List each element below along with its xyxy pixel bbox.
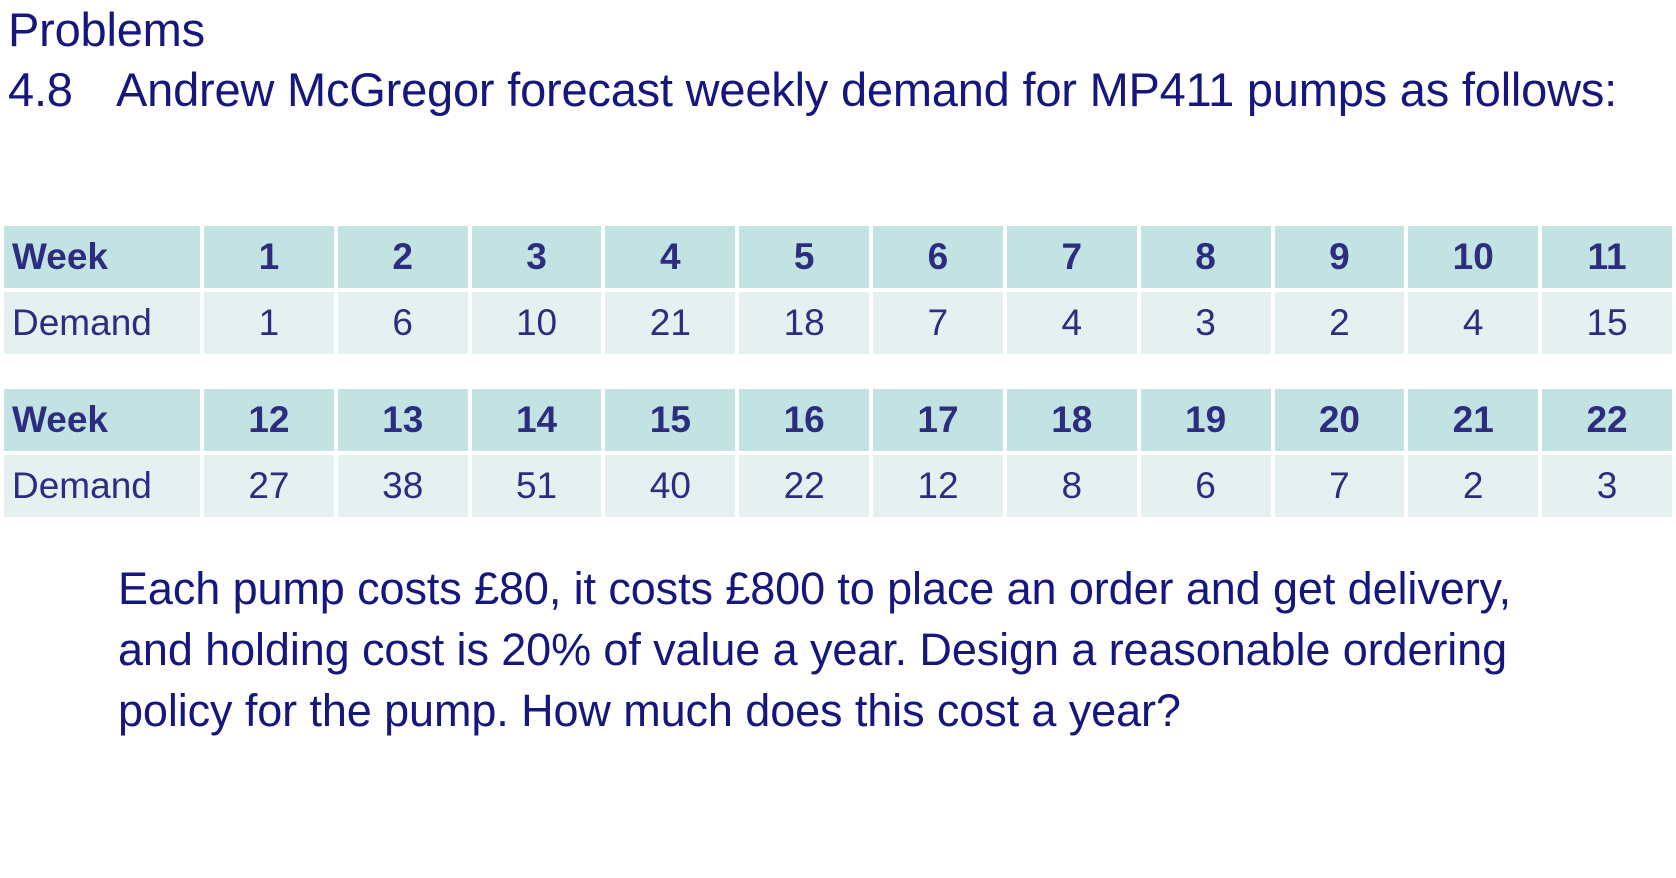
- demand-cell: 12: [873, 455, 1003, 517]
- week-cell: 2: [338, 226, 468, 288]
- week-cell: 5: [739, 226, 869, 288]
- page-title: Problems: [8, 2, 1668, 58]
- demand-cell: 40: [605, 455, 735, 517]
- demand-cell: 3: [1141, 292, 1271, 354]
- table-row-demand: Demand 1 6 10 21 18 7 4 3 2 4 15: [4, 292, 1672, 354]
- week-cell: 21: [1408, 389, 1538, 451]
- demand-cell: 21: [605, 292, 735, 354]
- demand-cell: 3: [1542, 455, 1672, 517]
- week-cell: 3: [472, 226, 602, 288]
- slide-canvas: Problems 4.8 Andrew McGregor forecast we…: [0, 0, 1676, 878]
- heading-block: Problems 4.8 Andrew McGregor forecast we…: [8, 2, 1668, 121]
- demand-cell: 1: [204, 292, 334, 354]
- problem-number: 4.8: [8, 58, 116, 121]
- demand-cell: 10: [472, 292, 602, 354]
- week-cell: 6: [873, 226, 1003, 288]
- week-cell: 11: [1542, 226, 1672, 288]
- week-cell: 12: [204, 389, 334, 451]
- demand-cell: 2: [1408, 455, 1538, 517]
- demand-cell: 27: [204, 455, 334, 517]
- table-row-week-header: Week 12 13 14 15 16 17 18 19 20 21 22: [4, 389, 1672, 451]
- week-cell: 14: [472, 389, 602, 451]
- demand-cell: 6: [1141, 455, 1271, 517]
- demand-table-weeks-1-11: Week 1 2 3 4 5 6 7 8 9 10 11 Demand 1 6 …: [0, 222, 1676, 358]
- demand-cell: 15: [1542, 292, 1672, 354]
- problem-statement: 4.8 Andrew McGregor forecast weekly dema…: [8, 58, 1668, 121]
- week-cell: 17: [873, 389, 1003, 451]
- week-cell: 7: [1007, 226, 1137, 288]
- week-cell: 9: [1275, 226, 1405, 288]
- demand-cell: 38: [338, 455, 468, 517]
- demand-cell: 7: [873, 292, 1003, 354]
- demand-cell: 2: [1275, 292, 1405, 354]
- week-cell: 4: [605, 226, 735, 288]
- demand-cell: 4: [1408, 292, 1538, 354]
- table-row-week-header: Week 1 2 3 4 5 6 7 8 9 10 11: [4, 226, 1672, 288]
- demand-cell: 4: [1007, 292, 1137, 354]
- week-row-label: Week: [4, 226, 200, 288]
- problem-text: Andrew McGregor forecast weekly demand f…: [116, 58, 1668, 121]
- week-cell: 20: [1275, 389, 1405, 451]
- demand-cell: 51: [472, 455, 602, 517]
- week-cell: 22: [1542, 389, 1672, 451]
- demand-cell: 8: [1007, 455, 1137, 517]
- week-cell: 15: [605, 389, 735, 451]
- demand-table-weeks-12-22: Week 12 13 14 15 16 17 18 19 20 21 22 De…: [0, 385, 1676, 521]
- week-cell: 1: [204, 226, 334, 288]
- body-paragraph: Each pump costs £80, it costs £800 to pl…: [118, 558, 1570, 741]
- table-row-demand: Demand 27 38 51 40 22 12 8 6 7 2 3: [4, 455, 1672, 517]
- demand-cell: 7: [1275, 455, 1405, 517]
- demand-row-label: Demand: [4, 292, 200, 354]
- demand-cell: 22: [739, 455, 869, 517]
- demand-cell: 18: [739, 292, 869, 354]
- week-cell: 16: [739, 389, 869, 451]
- week-cell: 10: [1408, 226, 1538, 288]
- week-cell: 8: [1141, 226, 1271, 288]
- week-cell: 19: [1141, 389, 1271, 451]
- demand-row-label: Demand: [4, 455, 200, 517]
- demand-cell: 6: [338, 292, 468, 354]
- week-cell: 18: [1007, 389, 1137, 451]
- week-cell: 13: [338, 389, 468, 451]
- week-row-label: Week: [4, 389, 200, 451]
